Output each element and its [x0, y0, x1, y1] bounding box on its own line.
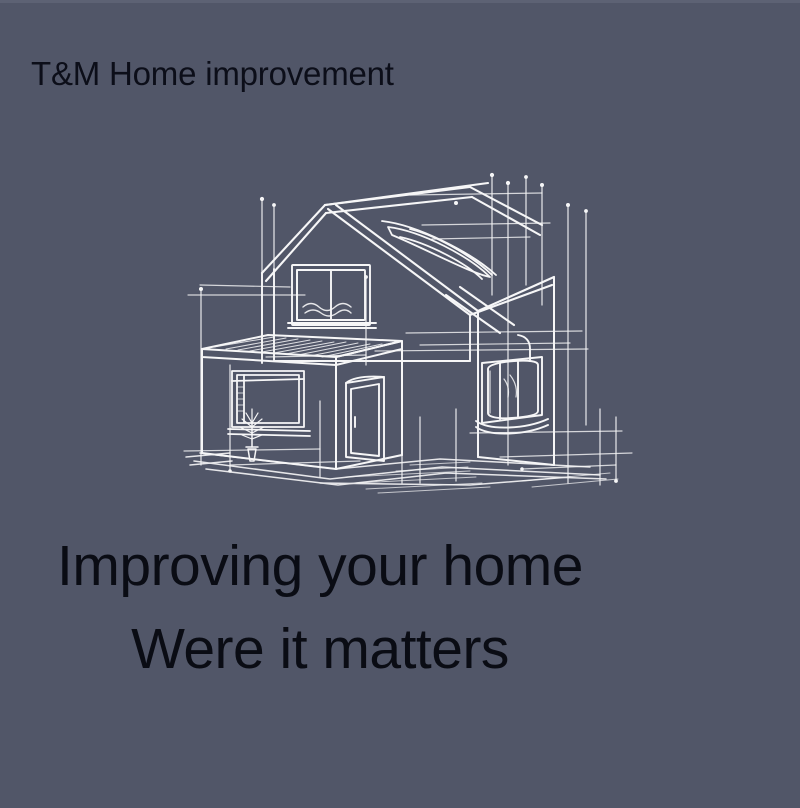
tagline: Improving your home Were it matters	[0, 525, 640, 691]
house-sketch-illustration	[170, 165, 640, 495]
top-edge-strip	[0, 0, 800, 3]
page-title: T&M Home improvement	[31, 56, 394, 92]
tagline-line-2: Were it matters	[0, 608, 640, 691]
tagline-line-1: Improving your home	[0, 525, 640, 608]
poster-canvas: T&M Home improvement	[0, 0, 800, 808]
